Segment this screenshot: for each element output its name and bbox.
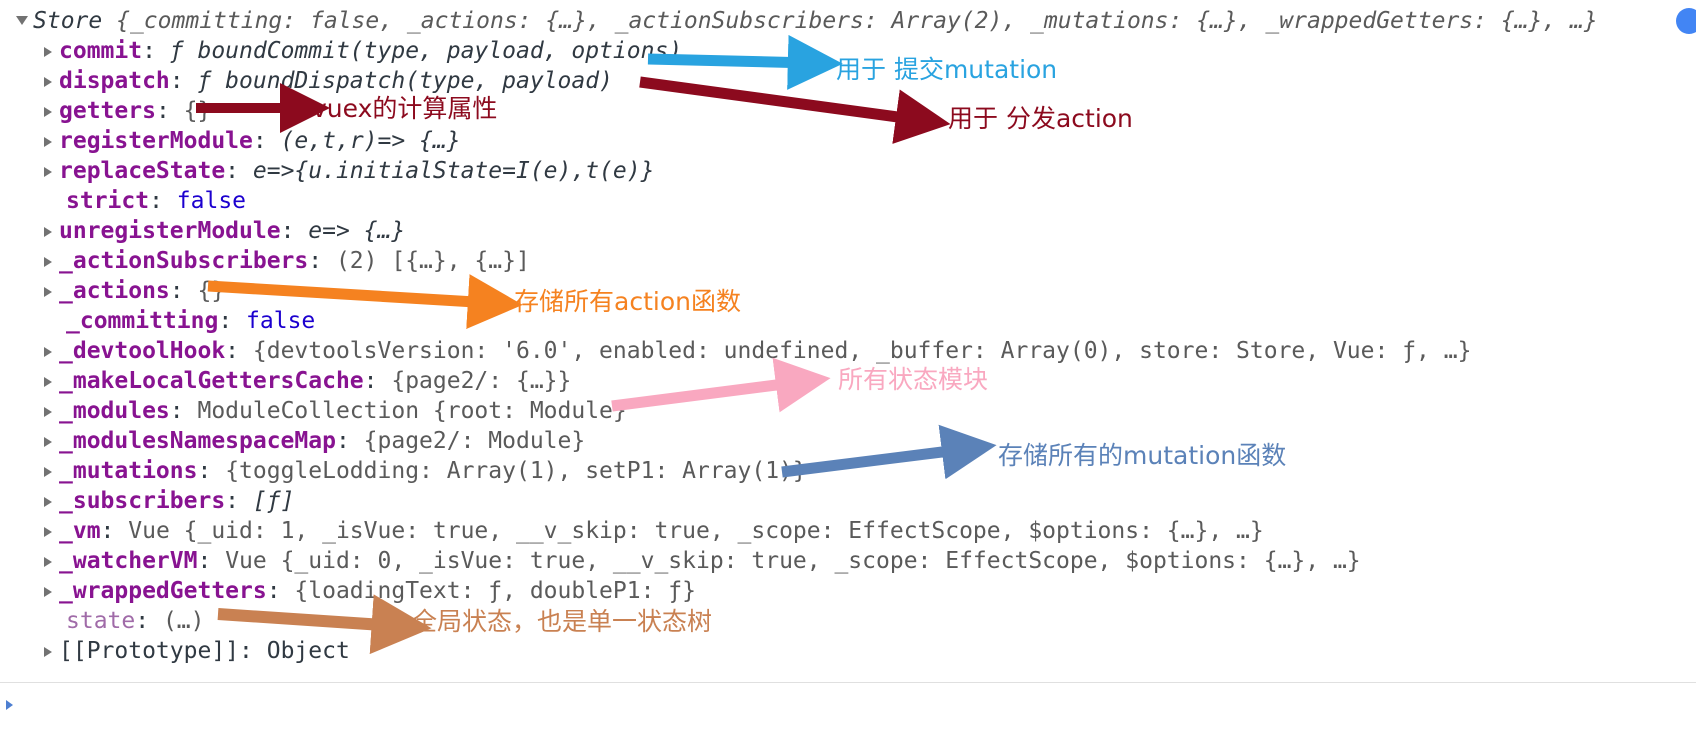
property-separator: : bbox=[225, 338, 253, 364]
property-key: _committing bbox=[66, 308, 218, 334]
property-value: {} bbox=[184, 98, 212, 124]
console-prompt-caret-icon bbox=[6, 700, 13, 710]
property-row-_modules[interactable]: _modules: ModuleCollection {root: Module… bbox=[0, 396, 627, 426]
property-separator: : bbox=[239, 638, 267, 664]
property-separator: : bbox=[170, 68, 198, 94]
property-value: ƒ boundDispatch(type, payload) bbox=[197, 68, 612, 94]
disclosure-triangle-icon[interactable] bbox=[44, 377, 52, 387]
annotation-getters: vuex的计算属性 bbox=[312, 95, 497, 123]
property-row-_devtoolHook[interactable]: _devtoolHook: {devtoolsVersion: '6.0', e… bbox=[0, 336, 1471, 366]
disclosure-triangle-icon[interactable] bbox=[44, 47, 52, 57]
property-row-state[interactable]: state: (…) bbox=[0, 606, 205, 636]
disclosure-triangle-icon[interactable] bbox=[44, 347, 52, 357]
disclosure-triangle-icon[interactable] bbox=[44, 647, 52, 657]
property-value: {toggleLodding: Array(1), setP1: Array(1… bbox=[225, 458, 807, 484]
console-divider bbox=[0, 682, 1696, 683]
property-value: {} bbox=[197, 278, 225, 304]
property-separator: : bbox=[197, 548, 225, 574]
property-key: _mutations bbox=[59, 458, 197, 484]
property-value: false bbox=[177, 188, 246, 214]
property-row-_makeLocalGettersCache[interactable]: _makeLocalGettersCache: {page2/: {…}} bbox=[0, 366, 571, 396]
property-row-getters[interactable]: getters: {} bbox=[0, 96, 211, 126]
property-separator: : bbox=[101, 518, 129, 544]
disclosure-triangle-icon[interactable] bbox=[44, 287, 52, 297]
property-row-_committing[interactable]: _committing: false bbox=[0, 306, 315, 336]
property-value: e=>{u.initialState=I(e),t(e)} bbox=[253, 158, 655, 184]
annotation-commit: 用于 提交mutation bbox=[836, 56, 1057, 84]
property-key: _devtoolHook bbox=[59, 338, 225, 364]
property-key: state bbox=[66, 608, 135, 634]
disclosure-triangle-icon[interactable] bbox=[44, 587, 52, 597]
disclosure-triangle-icon[interactable] bbox=[44, 437, 52, 447]
property-value: {page2/: {…}} bbox=[391, 368, 571, 394]
property-row-unregisterModule[interactable]: unregisterModule: e=> {…} bbox=[0, 216, 405, 246]
property-key: _actions bbox=[59, 278, 170, 304]
property-key: dispatch bbox=[59, 68, 170, 94]
property-key: _subscribers bbox=[59, 488, 225, 514]
property-value: ModuleCollection {root: Module} bbox=[197, 398, 626, 424]
property-separator: : bbox=[156, 98, 184, 124]
disclosure-triangle-icon[interactable] bbox=[44, 167, 52, 177]
property-value: e=> {…} bbox=[308, 218, 405, 244]
disclosure-triangle-icon[interactable] bbox=[44, 77, 52, 87]
property-key: _makeLocalGettersCache bbox=[59, 368, 364, 394]
property-value: Vue {_uid: 0, _isVue: true, __v_skip: tr… bbox=[225, 548, 1360, 574]
property-row-_wrappedGetters[interactable]: _wrappedGetters: {loadingText: ƒ, double… bbox=[0, 576, 696, 606]
tree-indent-spacer bbox=[44, 206, 59, 207]
property-value: {page2/: Module} bbox=[364, 428, 586, 454]
property-key: unregisterModule bbox=[59, 218, 281, 244]
property-separator: : bbox=[225, 158, 253, 184]
property-separator: : bbox=[267, 578, 295, 604]
property-separator: : bbox=[308, 248, 336, 274]
property-row-_mutations[interactable]: _mutations: {toggleLodding: Array(1), se… bbox=[0, 456, 807, 486]
property-row-_watcherVM[interactable]: _watcherVM: Vue {_uid: 0, _isVue: true, … bbox=[0, 546, 1361, 576]
property-key: replaceState bbox=[59, 158, 225, 184]
property-row-_modulesNamespaceMap[interactable]: _modulesNamespaceMap: {page2/: Module} bbox=[0, 426, 585, 456]
object-root-row[interactable]: Store {_committing: false, _actions: {…}… bbox=[0, 6, 1598, 36]
property-row-dispatch[interactable]: dispatch: ƒ boundDispatch(type, payload) bbox=[0, 66, 613, 96]
disclosure-triangle-icon[interactable] bbox=[44, 137, 52, 147]
property-separator: : bbox=[170, 398, 198, 424]
property-row-commit[interactable]: commit: ƒ boundCommit(type, payload, opt… bbox=[0, 36, 682, 66]
disclosure-triangle-icon[interactable] bbox=[44, 257, 52, 267]
disclosure-triangle-icon[interactable] bbox=[44, 527, 52, 537]
property-row-_subscribers[interactable]: _subscribers: [ƒ] bbox=[0, 486, 294, 516]
annotation-modules: 所有状态模块 bbox=[838, 366, 988, 394]
disclosure-triangle-icon[interactable] bbox=[44, 467, 52, 477]
property-separator: : bbox=[218, 308, 246, 334]
object-preview: {_committing: false, _actions: {…}, _act… bbox=[116, 8, 1598, 34]
property-value: Object bbox=[267, 638, 350, 664]
property-key: registerModule bbox=[59, 128, 253, 154]
property-separator: : bbox=[142, 38, 170, 64]
property-key: commit bbox=[59, 38, 142, 64]
property-value: (2) [{…}, {…}] bbox=[336, 248, 530, 274]
disclosure-triangle-icon[interactable] bbox=[44, 497, 52, 507]
property-row-_actions[interactable]: _actions: {} bbox=[0, 276, 225, 306]
property-value: (e,t,r)=> {…} bbox=[281, 128, 461, 154]
property-key: _watcherVM bbox=[59, 548, 197, 574]
property-separator: : bbox=[281, 218, 309, 244]
property-key: _modules bbox=[59, 398, 170, 424]
property-row-registerModule[interactable]: registerModule: (e,t,r)=> {…} bbox=[0, 126, 461, 156]
property-key: strict bbox=[66, 188, 149, 214]
annotation-actions: 存储所有action函数 bbox=[514, 288, 741, 316]
property-value: {devtoolsVersion: '6.0', enabled: undefi… bbox=[253, 338, 1472, 364]
annotation-state: 全局状态，也是单一状态树 bbox=[412, 608, 712, 636]
disclosure-triangle-icon[interactable] bbox=[44, 557, 52, 567]
property-row-prototype[interactable]: [[Prototype]]: Object bbox=[0, 636, 350, 666]
property-key: _actionSubscribers bbox=[59, 248, 308, 274]
info-badge-icon[interactable] bbox=[1676, 8, 1696, 34]
property-row-strict[interactable]: strict: false bbox=[0, 186, 246, 216]
property-separator: : bbox=[336, 428, 364, 454]
object-constructor-name: Store bbox=[33, 8, 102, 34]
tree-indent-spacer bbox=[44, 326, 59, 327]
property-key: [[Prototype]] bbox=[59, 638, 239, 664]
property-separator: : bbox=[170, 278, 198, 304]
property-row-_vm[interactable]: _vm: Vue {_uid: 1, _isVue: true, __v_ski… bbox=[0, 516, 1264, 546]
property-key: _wrappedGetters bbox=[59, 578, 267, 604]
property-value: {loadingText: ƒ, doubleP1: ƒ} bbox=[294, 578, 696, 604]
property-value: ƒ boundCommit(type, payload, options) bbox=[170, 38, 682, 64]
property-separator: : bbox=[364, 368, 392, 394]
tree-indent-spacer bbox=[44, 626, 59, 627]
disclosure-triangle-icon[interactable] bbox=[44, 107, 52, 117]
property-row-replaceState[interactable]: replaceState: e=>{u.initialState=I(e),t(… bbox=[0, 156, 654, 186]
property-separator: : bbox=[253, 128, 281, 154]
disclosure-triangle-icon[interactable] bbox=[44, 407, 52, 417]
property-row-_actionSubscribers[interactable]: _actionSubscribers: (2) [{…}, {…}] bbox=[0, 246, 530, 276]
property-separator: : bbox=[225, 488, 253, 514]
property-separator: : bbox=[149, 188, 177, 214]
annotation-dispatch: 用于 分发action bbox=[948, 105, 1133, 133]
disclosure-triangle-open-icon[interactable] bbox=[16, 16, 28, 25]
property-value: false bbox=[246, 308, 315, 334]
disclosure-triangle-icon[interactable] bbox=[44, 227, 52, 237]
property-value: [ƒ] bbox=[253, 488, 295, 514]
property-key: _vm bbox=[59, 518, 101, 544]
property-separator: : bbox=[135, 608, 163, 634]
property-value: Vue {_uid: 1, _isVue: true, __v_skip: tr… bbox=[128, 518, 1263, 544]
annotation-mutations: 存储所有的mutation函数 bbox=[998, 442, 1286, 470]
property-key: _modulesNamespaceMap bbox=[59, 428, 336, 454]
property-value-getter[interactable]: (…) bbox=[163, 608, 205, 634]
property-separator: : bbox=[197, 458, 225, 484]
property-key: getters bbox=[59, 98, 156, 124]
